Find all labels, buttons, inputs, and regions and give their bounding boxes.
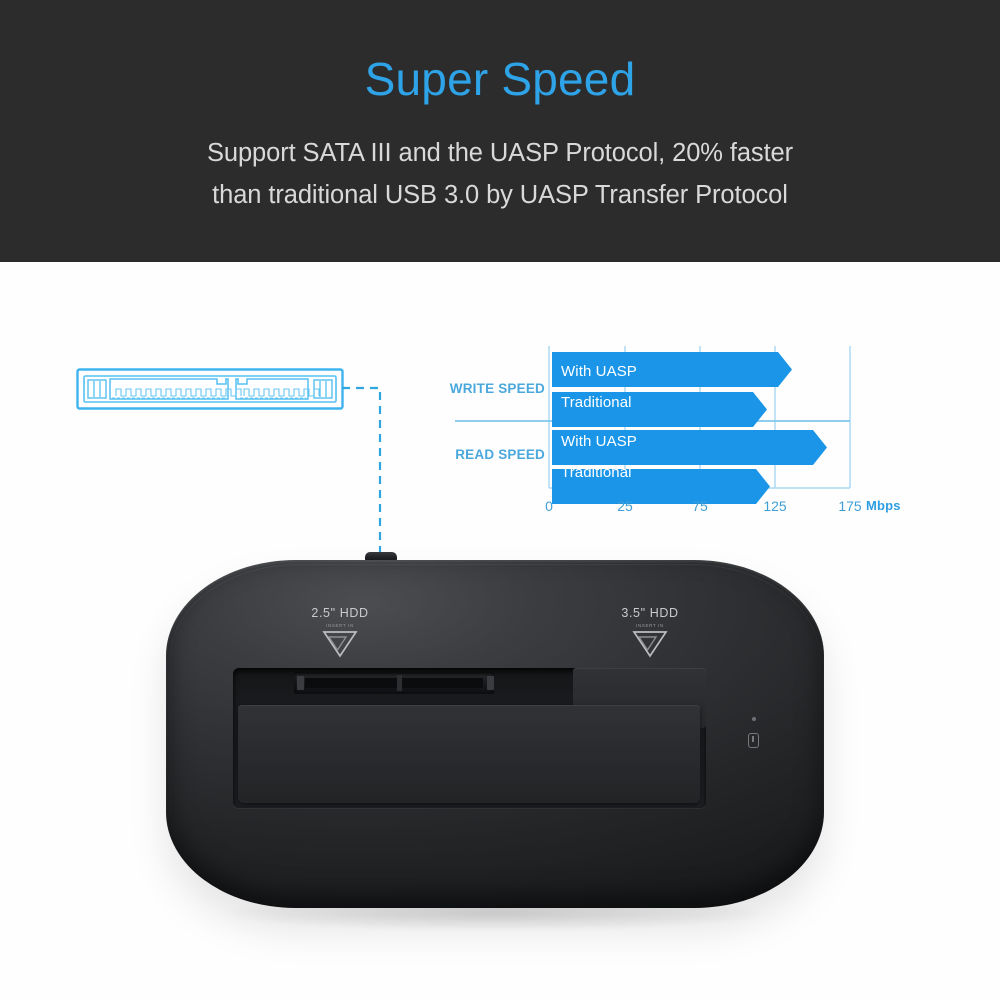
dock-slot-end-right: [487, 676, 494, 690]
page-title: Super Speed: [0, 52, 1000, 106]
chart-tick-0: 0: [529, 498, 569, 514]
bay-label-2-5: 2.5" HDD: [280, 606, 400, 620]
bar-label-write-traditional: Traditional: [561, 394, 632, 411]
chart-tick-25: 25: [605, 498, 645, 514]
bar-label-read-with-uasp: With UASP: [561, 433, 637, 450]
led-indicator: [752, 717, 756, 721]
dock-tray-lid: [238, 705, 700, 803]
chart-tick-125: 125: [755, 498, 795, 514]
chart-axis-unit: Mbps: [866, 498, 901, 513]
dock-sata-slot-inner: [305, 678, 483, 688]
dock-slot-notch: [397, 675, 402, 691]
chart-tick-75: 75: [680, 498, 720, 514]
chart-category-read-speed: READ SPEED: [425, 447, 545, 462]
bay-sublabel-3-5: INSERT IN: [590, 623, 710, 628]
page-subtitle: Support SATA III and the UASP Protocol, …: [0, 132, 1000, 216]
subtitle-line-2: than traditional USB 3.0 by UASP Transfe…: [0, 174, 1000, 216]
insert-down-triangle-icon: [320, 629, 360, 659]
insert-down-triangle-icon: [630, 629, 670, 659]
bar-label-write-with-uasp: With UASP: [561, 363, 637, 380]
chart-tick-175: 175: [830, 498, 870, 514]
header-band: Super Speed Support SATA III and the UAS…: [0, 0, 1000, 262]
bay-marking-3-5-hdd: 3.5" HDD INSERT IN: [590, 606, 710, 659]
bay-marking-2-5-hdd: 2.5" HDD INSERT IN: [280, 606, 400, 659]
chart-category-write-speed: WRITE SPEED: [425, 381, 545, 396]
product-marketing-image: Super Speed Support SATA III and the UAS…: [0, 0, 1000, 1000]
sata-connector-icon: [76, 368, 344, 410]
bay-label-3-5: 3.5" HDD: [590, 606, 710, 620]
subtitle-line-1: Support SATA III and the UASP Protocol, …: [0, 132, 1000, 174]
dock-slot-end-left: [297, 676, 304, 690]
bar-label-read-traditional: Traditional: [561, 464, 632, 481]
bay-sublabel-2-5: INSERT IN: [280, 623, 400, 628]
power-button[interactable]: [748, 733, 759, 748]
